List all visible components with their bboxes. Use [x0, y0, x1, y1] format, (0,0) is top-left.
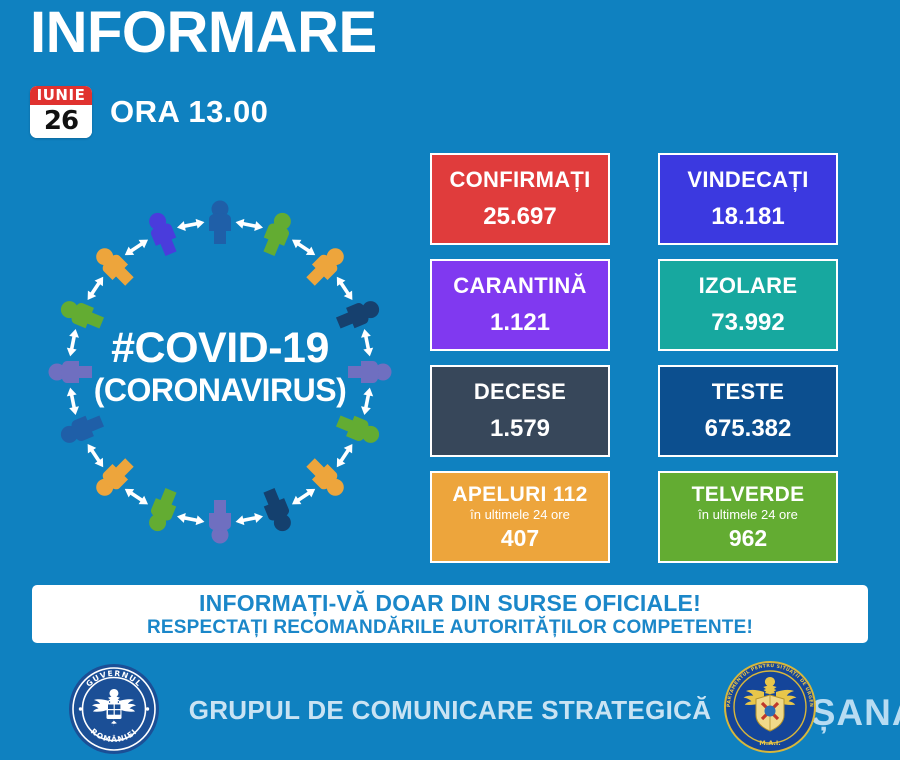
- stat-sublabel: în ultimele 24 ore: [470, 507, 570, 523]
- stat-label: TELVERDE: [692, 483, 805, 506]
- guvernul-romaniei-seal-icon: GUVERNUL ROMÂNIEI: [68, 663, 160, 755]
- calendar-month-label: IUNIE: [30, 86, 92, 105]
- stat-label: IZOLARE: [699, 273, 798, 299]
- people-circle-icon: #COVID-19 (CORONAVIRUS): [25, 175, 415, 570]
- stat-box-telverde: TELVERDE în ultimele 24 ore 962: [658, 471, 838, 563]
- stat-value: 25.697: [483, 202, 556, 232]
- calendar-day-label: 26: [30, 105, 92, 138]
- dsu-mai-label: M.A.I.: [759, 739, 780, 747]
- stat-box-vindecati: VINDECAȚI 18.181: [658, 153, 838, 245]
- stat-box-apeluri-112: APELURI 112 în ultimele 24 ore 407: [430, 471, 610, 563]
- calendar-icon: IUNIE 26: [30, 86, 92, 138]
- footer: GUVERNUL ROMÂNIEI GRUPUL DE COMUNICARE S…: [0, 655, 900, 755]
- hour-label: ORA 13.00: [110, 94, 268, 130]
- stat-box-izolare: IZOLARE 73.992: [658, 259, 838, 351]
- stat-sublabel: în ultimele 24 ore: [698, 507, 798, 523]
- stat-value: 1.121: [490, 308, 550, 338]
- stat-box-carantina: CARANTINĂ 1.121: [430, 259, 610, 351]
- official-sources-banner: INFORMAȚI-VĂ DOAR DIN SURSE OFICIALE! RE…: [32, 585, 868, 643]
- stat-value: 1.579: [490, 414, 550, 444]
- date-row: IUNIE 26 ORA 13.00: [30, 86, 268, 138]
- stat-value: 18.181: [711, 202, 784, 232]
- header: INFORMARE IUNIE 26 ORA 13.00: [0, 0, 900, 150]
- footer-organization-label: GRUPUL DE COMUNICARE STRATEGICĂ: [180, 695, 720, 726]
- stat-value: 962: [729, 525, 767, 551]
- stat-box-confirmati: CONFIRMAȚI 25.697: [430, 153, 610, 245]
- stat-label: APELURI 112: [452, 483, 587, 506]
- banner-line-2: RESPECTAȚI RECOMANDĂRILE AUTORITĂȚILOR C…: [147, 616, 753, 639]
- stat-value: 407: [501, 525, 539, 551]
- stat-value: 73.992: [711, 308, 784, 338]
- stat-label: CARANTINĂ: [453, 273, 586, 299]
- stat-box-decese: DECESE 1.579: [430, 365, 610, 457]
- dsu-emblem-icon: DEPARTAMENTUL PENTRU SITUAȚII DE URGENȚĂ…: [722, 659, 822, 755]
- stat-value: 675.382: [705, 414, 792, 444]
- stat-label: CONFIRMAȚI: [449, 167, 590, 193]
- stats-grid: CONFIRMAȚI 25.697 VINDECAȚI 18.181 CARAN…: [430, 153, 838, 568]
- banner-line-1: INFORMAȚI-VĂ DOAR DIN SURSE OFICIALE!: [199, 590, 701, 616]
- page-title: INFORMARE: [30, 4, 377, 62]
- stat-label: DECESE: [474, 379, 566, 405]
- stat-label: TESTE: [712, 379, 784, 405]
- stat-box-teste: TESTE 675.382: [658, 365, 838, 457]
- stat-label: VINDECAȚI: [687, 167, 808, 193]
